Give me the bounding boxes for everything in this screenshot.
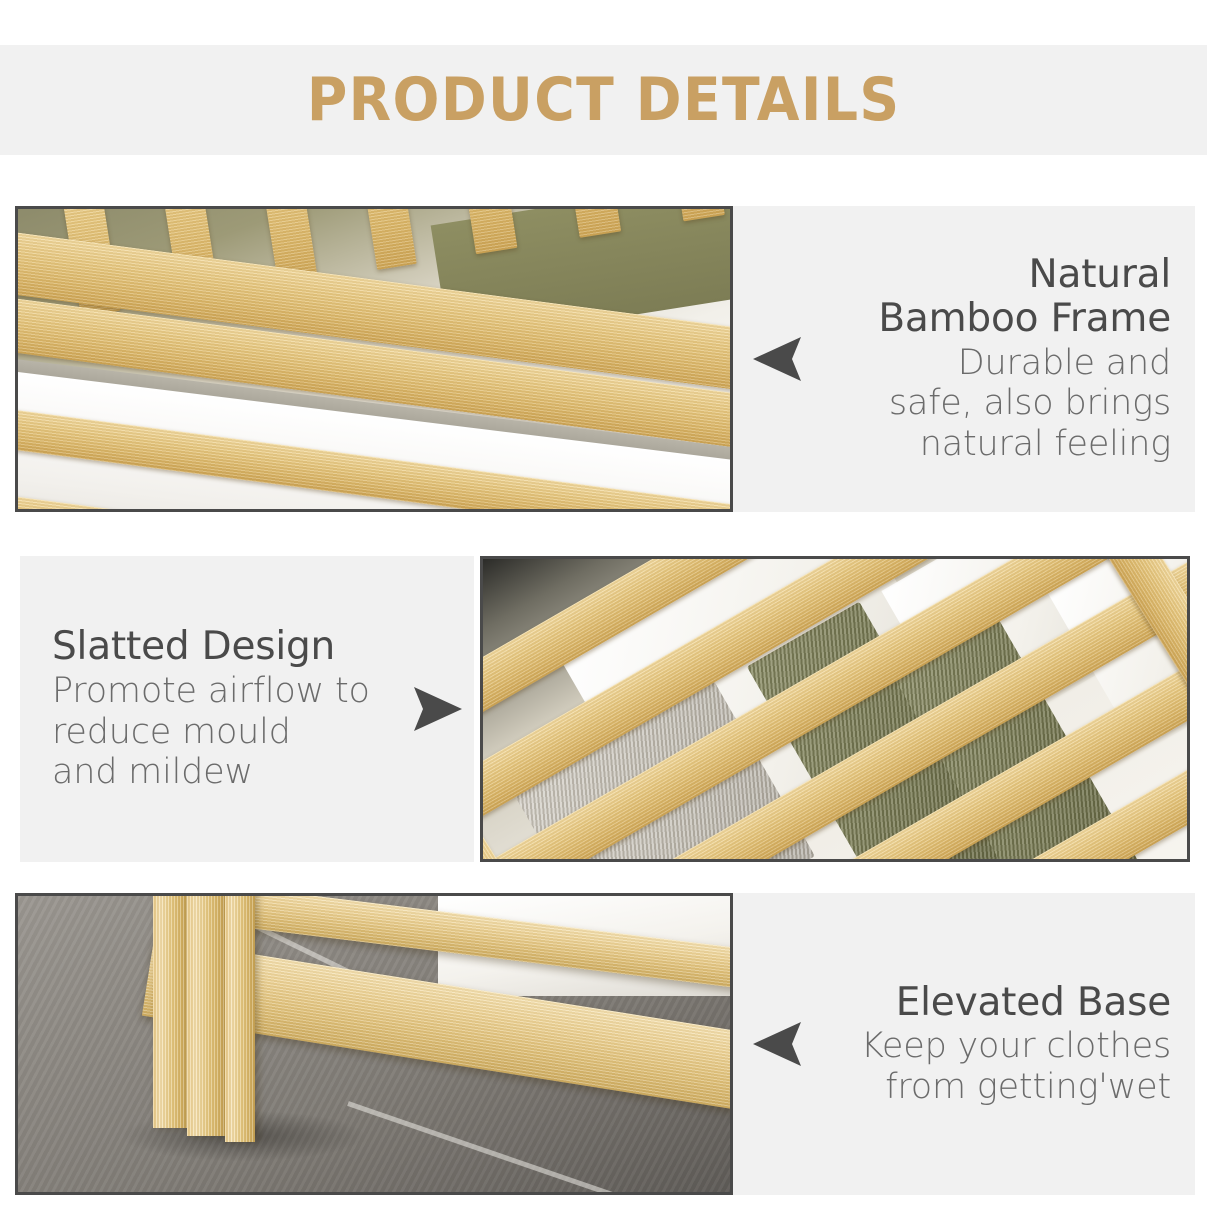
feature-heading-line: Elevated Base [803, 981, 1171, 1025]
feature-photo-natural-bamboo-frame [15, 206, 733, 512]
feature-heading-line: Slatted Design [52, 625, 412, 669]
feature-text-panel-elevated-base: Elevated Base Keep your clothes from get… [733, 893, 1195, 1195]
feature-body-slatted-design: Promote airflow to reduce mould and mild… [52, 671, 412, 793]
feature-body-line: Keep your clothes [803, 1026, 1171, 1067]
arrow-left-icon [751, 1021, 803, 1067]
feature-body-line: from getting'wet [803, 1067, 1171, 1108]
feature-photo-slatted-design [480, 556, 1190, 862]
feature-body-line: natural feeling [803, 424, 1171, 465]
feature-text-panel-natural-bamboo-frame: Natural Bamboo Frame Durable and safe, a… [733, 206, 1195, 512]
feature-heading-slatted-design: Slatted Design [52, 625, 412, 669]
feature-text-panel-slatted-design: Slatted Design Promote airflow to reduce… [20, 556, 474, 862]
feature-heading-line: Bamboo Frame [803, 297, 1171, 341]
arrow-right-icon [412, 686, 464, 732]
elevated-base-illustration [18, 896, 730, 1192]
bamboo-frame-illustration [18, 209, 730, 509]
feature-body-line: safe, also brings [803, 383, 1171, 424]
feature-body-line: Durable and [803, 343, 1171, 384]
page-title-band: PRODUCT DETAILS [0, 45, 1207, 155]
page-title: PRODUCT DETAILS [307, 70, 901, 130]
arrow-left-icon [751, 336, 803, 382]
slatted-design-illustration [483, 559, 1187, 859]
feature-body-line: and mildew [52, 752, 412, 793]
feature-body-natural-bamboo-frame: Durable and safe, also brings natural fe… [803, 343, 1171, 465]
feature-heading-line: Natural [803, 253, 1171, 297]
feature-photo-elevated-base [15, 893, 733, 1195]
feature-heading-natural-bamboo-frame: Natural Bamboo Frame [803, 253, 1171, 340]
feature-heading-elevated-base: Elevated Base [803, 981, 1171, 1025]
feature-body-line: reduce mould [52, 712, 412, 753]
feature-body-elevated-base: Keep your clothes from getting'wet [803, 1026, 1171, 1107]
feature-body-line: Promote airflow to [52, 671, 412, 712]
